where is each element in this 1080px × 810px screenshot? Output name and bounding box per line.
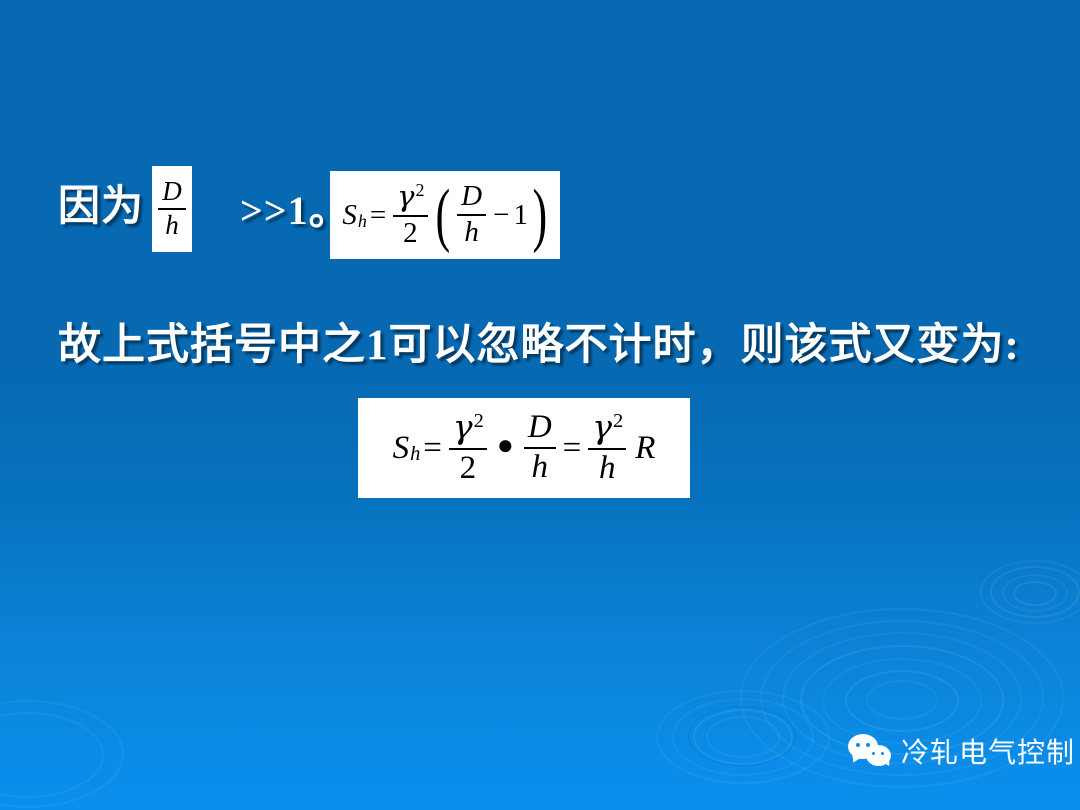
formula1-lhs-symbol: S <box>342 199 357 232</box>
formula1-one: 1 <box>513 199 528 232</box>
formula2-equals-second: = <box>559 430 586 467</box>
formula2-lhs-subscript: h <box>410 443 420 466</box>
formula-sh-simplified: Sh = γ2 2 ● D h = γ2 h R <box>358 398 690 498</box>
fraction-denominator: h <box>595 452 620 486</box>
watermark: 冷轧电气控制 <box>848 731 1075 771</box>
because-label: 因为 <box>58 172 144 233</box>
ripple-ring <box>1013 581 1057 606</box>
ripple-ring <box>693 709 793 765</box>
fraction-numerator: γ2 <box>393 182 427 213</box>
formula2-equals-first: = <box>419 430 446 467</box>
fraction-numerator: D <box>524 411 556 445</box>
formula2-lhs-symbol: S <box>393 430 410 467</box>
ripple-ring <box>672 698 814 776</box>
formula1-minus: − <box>489 199 513 232</box>
formula-sh-expanded: Sh = γ2 2 ( D h − 1 ) <box>330 171 560 259</box>
formula2-term3-fraction: γ2 h <box>588 410 626 485</box>
wechat-eye <box>856 743 860 747</box>
ripple-ring <box>656 690 830 784</box>
explanation-sentence: 故上式括号中之1可以忽略不计时，则该式又变为: <box>58 310 1020 372</box>
fraction-numerator: D <box>457 182 486 212</box>
formula1-lhs-subscript: h <box>358 211 367 232</box>
fraction-numerator: γ2 <box>588 410 626 446</box>
ripple-ring <box>0 700 124 808</box>
fraction-denominator: h <box>528 451 553 485</box>
watermark-label: 冷轧电气控制 <box>901 731 1075 771</box>
presentation-slide: 因为 D h >>1。 Sh = γ2 2 ( D h − <box>0 0 1080 810</box>
wechat-eye <box>881 752 884 755</box>
fraction-denominator: 2 <box>456 452 481 486</box>
paren-close: ) <box>532 193 547 237</box>
inline-fraction-d-over-h: D h <box>152 166 192 252</box>
ripple-ring <box>866 680 938 720</box>
wechat-icon <box>848 734 892 768</box>
ripple-ring <box>0 712 104 798</box>
ripple-ring <box>980 560 1080 624</box>
ripple-ring <box>706 716 780 758</box>
formula1-equals: = <box>366 199 390 232</box>
fraction-denominator: 2 <box>399 219 422 249</box>
wechat-eye <box>866 743 870 747</box>
ripple-ring <box>990 566 1080 618</box>
formula2-term1-fraction: γ2 2 <box>449 410 487 485</box>
fraction-denominator: h <box>161 212 183 240</box>
ripple-ring <box>1002 574 1068 612</box>
fraction-denominator: h <box>460 218 483 248</box>
fraction-numerator: γ2 <box>449 410 487 446</box>
formula1-coefficient-fraction: γ2 2 <box>393 182 427 248</box>
multiplication-dot: ● <box>490 430 521 462</box>
ripple-ring <box>845 670 959 732</box>
ripple-ring <box>688 706 796 766</box>
paren-open: ( <box>435 193 450 237</box>
formula2-radius-symbol: R <box>629 430 655 467</box>
fraction-numerator: D <box>158 178 186 206</box>
formula2-term2-fraction: D h <box>524 411 556 484</box>
formula1-inner-fraction: D h <box>457 182 486 247</box>
wechat-eye <box>872 752 875 755</box>
